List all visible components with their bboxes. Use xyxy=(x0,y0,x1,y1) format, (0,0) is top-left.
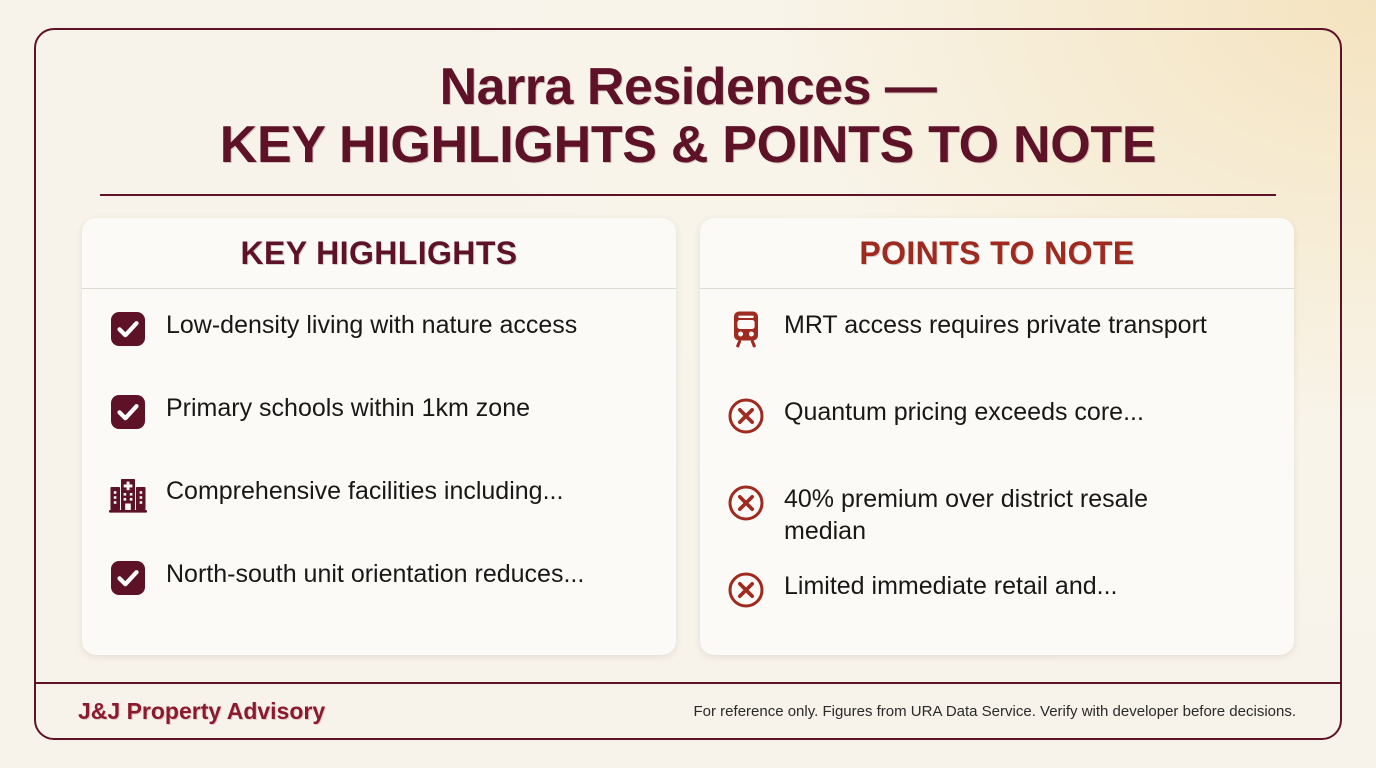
hospital-building-icon xyxy=(108,475,148,515)
list-item-label: MRT access requires private transport xyxy=(784,307,1207,342)
checkbox-checked-icon xyxy=(108,558,148,598)
list-item[interactable]: Comprehensive facilities including... xyxy=(108,473,650,556)
footer-brand: J&J Property Advisory xyxy=(78,698,325,725)
page-title-line-1: Narra Residences — xyxy=(76,58,1300,116)
panel-title-points-to-note: POINTS TO NOTE xyxy=(859,235,1134,272)
list-item[interactable]: Limited immediate retail and... xyxy=(726,568,1268,655)
list-item[interactable]: MRT access requires private transport xyxy=(726,307,1268,394)
checkbox-checked-icon xyxy=(108,309,148,349)
train-mrt-icon xyxy=(726,309,766,349)
list-item-label: Primary schools within 1km zone xyxy=(166,390,530,425)
poster-footer: J&J Property Advisory For reference only… xyxy=(36,682,1340,738)
panel-points-to-note: POINTS TO NOTE xyxy=(700,218,1294,655)
list-item-label: Comprehensive facilities including... xyxy=(166,473,563,508)
list-item-label: 40% premium over district resale median xyxy=(784,481,1194,547)
poster-header: Narra Residences — KEY HIGHLIGHTS & POIN… xyxy=(36,30,1340,196)
list-item-label: Quantum pricing exceeds core... xyxy=(784,394,1144,429)
poster-frame: Narra Residences — KEY HIGHLIGHTS & POIN… xyxy=(34,28,1342,740)
panel-header-points-to-note: POINTS TO NOTE xyxy=(700,218,1294,289)
panel-header-key-highlights: KEY HIGHLIGHTS xyxy=(82,218,676,289)
circle-x-icon xyxy=(726,570,766,610)
panel-key-highlights: KEY HIGHLIGHTS Low-density living with n… xyxy=(82,218,676,655)
list-item-label: Limited immediate retail and... xyxy=(784,568,1117,603)
footer-disclaimer: For reference only. Figures from URA Dat… xyxy=(694,703,1296,720)
list-item[interactable]: Quantum pricing exceeds core... xyxy=(726,394,1268,481)
panel-body-points-to-note: MRT access requires private transport Qu… xyxy=(700,289,1294,655)
list-item[interactable]: 40% premium over district resale median xyxy=(726,481,1268,568)
page-title-line-2: KEY HIGHLIGHTS & POINTS TO NOTE xyxy=(76,116,1300,174)
panels-container: KEY HIGHLIGHTS Low-density living with n… xyxy=(36,196,1340,655)
circle-x-icon xyxy=(726,396,766,436)
circle-x-icon xyxy=(726,483,766,523)
panel-body-key-highlights: Low-density living with nature access Pr… xyxy=(82,289,676,655)
checkbox-checked-icon xyxy=(108,392,148,432)
list-item[interactable]: Primary schools within 1km zone xyxy=(108,390,650,473)
list-item-label: North-south unit orientation reduces... xyxy=(166,556,584,591)
list-item-label: Low-density living with nature access xyxy=(166,307,577,342)
list-item[interactable]: Low-density living with nature access xyxy=(108,307,650,390)
panel-title-key-highlights: KEY HIGHLIGHTS xyxy=(240,235,517,272)
list-item[interactable]: North-south unit orientation reduces... xyxy=(108,556,650,639)
